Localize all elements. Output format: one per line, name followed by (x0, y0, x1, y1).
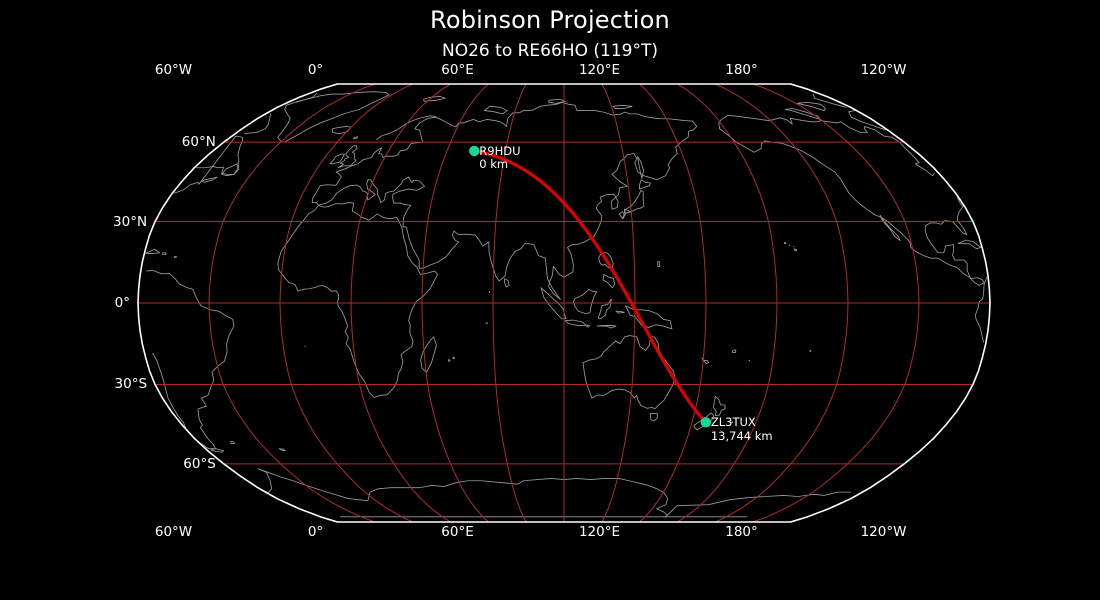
lon-label-bottom-0: 0° (308, 524, 323, 540)
lat-label-2: 0° (115, 295, 130, 311)
great-circle-path (474, 151, 706, 422)
robinson-map[interactable] (0, 0, 1100, 600)
lon-label-bottom-5: 60°W (155, 524, 192, 540)
lon-label-bottom-1: 60°E (441, 524, 473, 540)
lon-label-top-4: 120°W (861, 62, 907, 78)
lon-label-top-3: 180° (725, 62, 758, 78)
marker-to[interactable] (701, 417, 711, 427)
lon-label-top-2: 120°E (579, 62, 620, 78)
map-window: Robinson Projection NO26 to RE66HO (119°… (0, 0, 1100, 600)
lon-label-bottom-3: 180° (725, 524, 758, 540)
lon-label-bottom-2: 120°E (579, 524, 620, 540)
lat-label-1: 30°N (113, 214, 147, 230)
lon-label-top-5: 60°W (155, 62, 192, 78)
lat-label-0: 60°N (182, 134, 216, 150)
lat-label-3: 30°S (115, 376, 148, 392)
graticule-layer (138, 84, 990, 522)
lon-label-bottom-4: 120°W (861, 524, 907, 540)
lat-label-4: 60°S (183, 456, 216, 472)
markers-layer[interactable] (469, 146, 711, 428)
marker-from[interactable] (469, 146, 479, 156)
lon-label-top-1: 60°E (441, 62, 473, 78)
lon-label-top-0: 0° (308, 62, 323, 78)
